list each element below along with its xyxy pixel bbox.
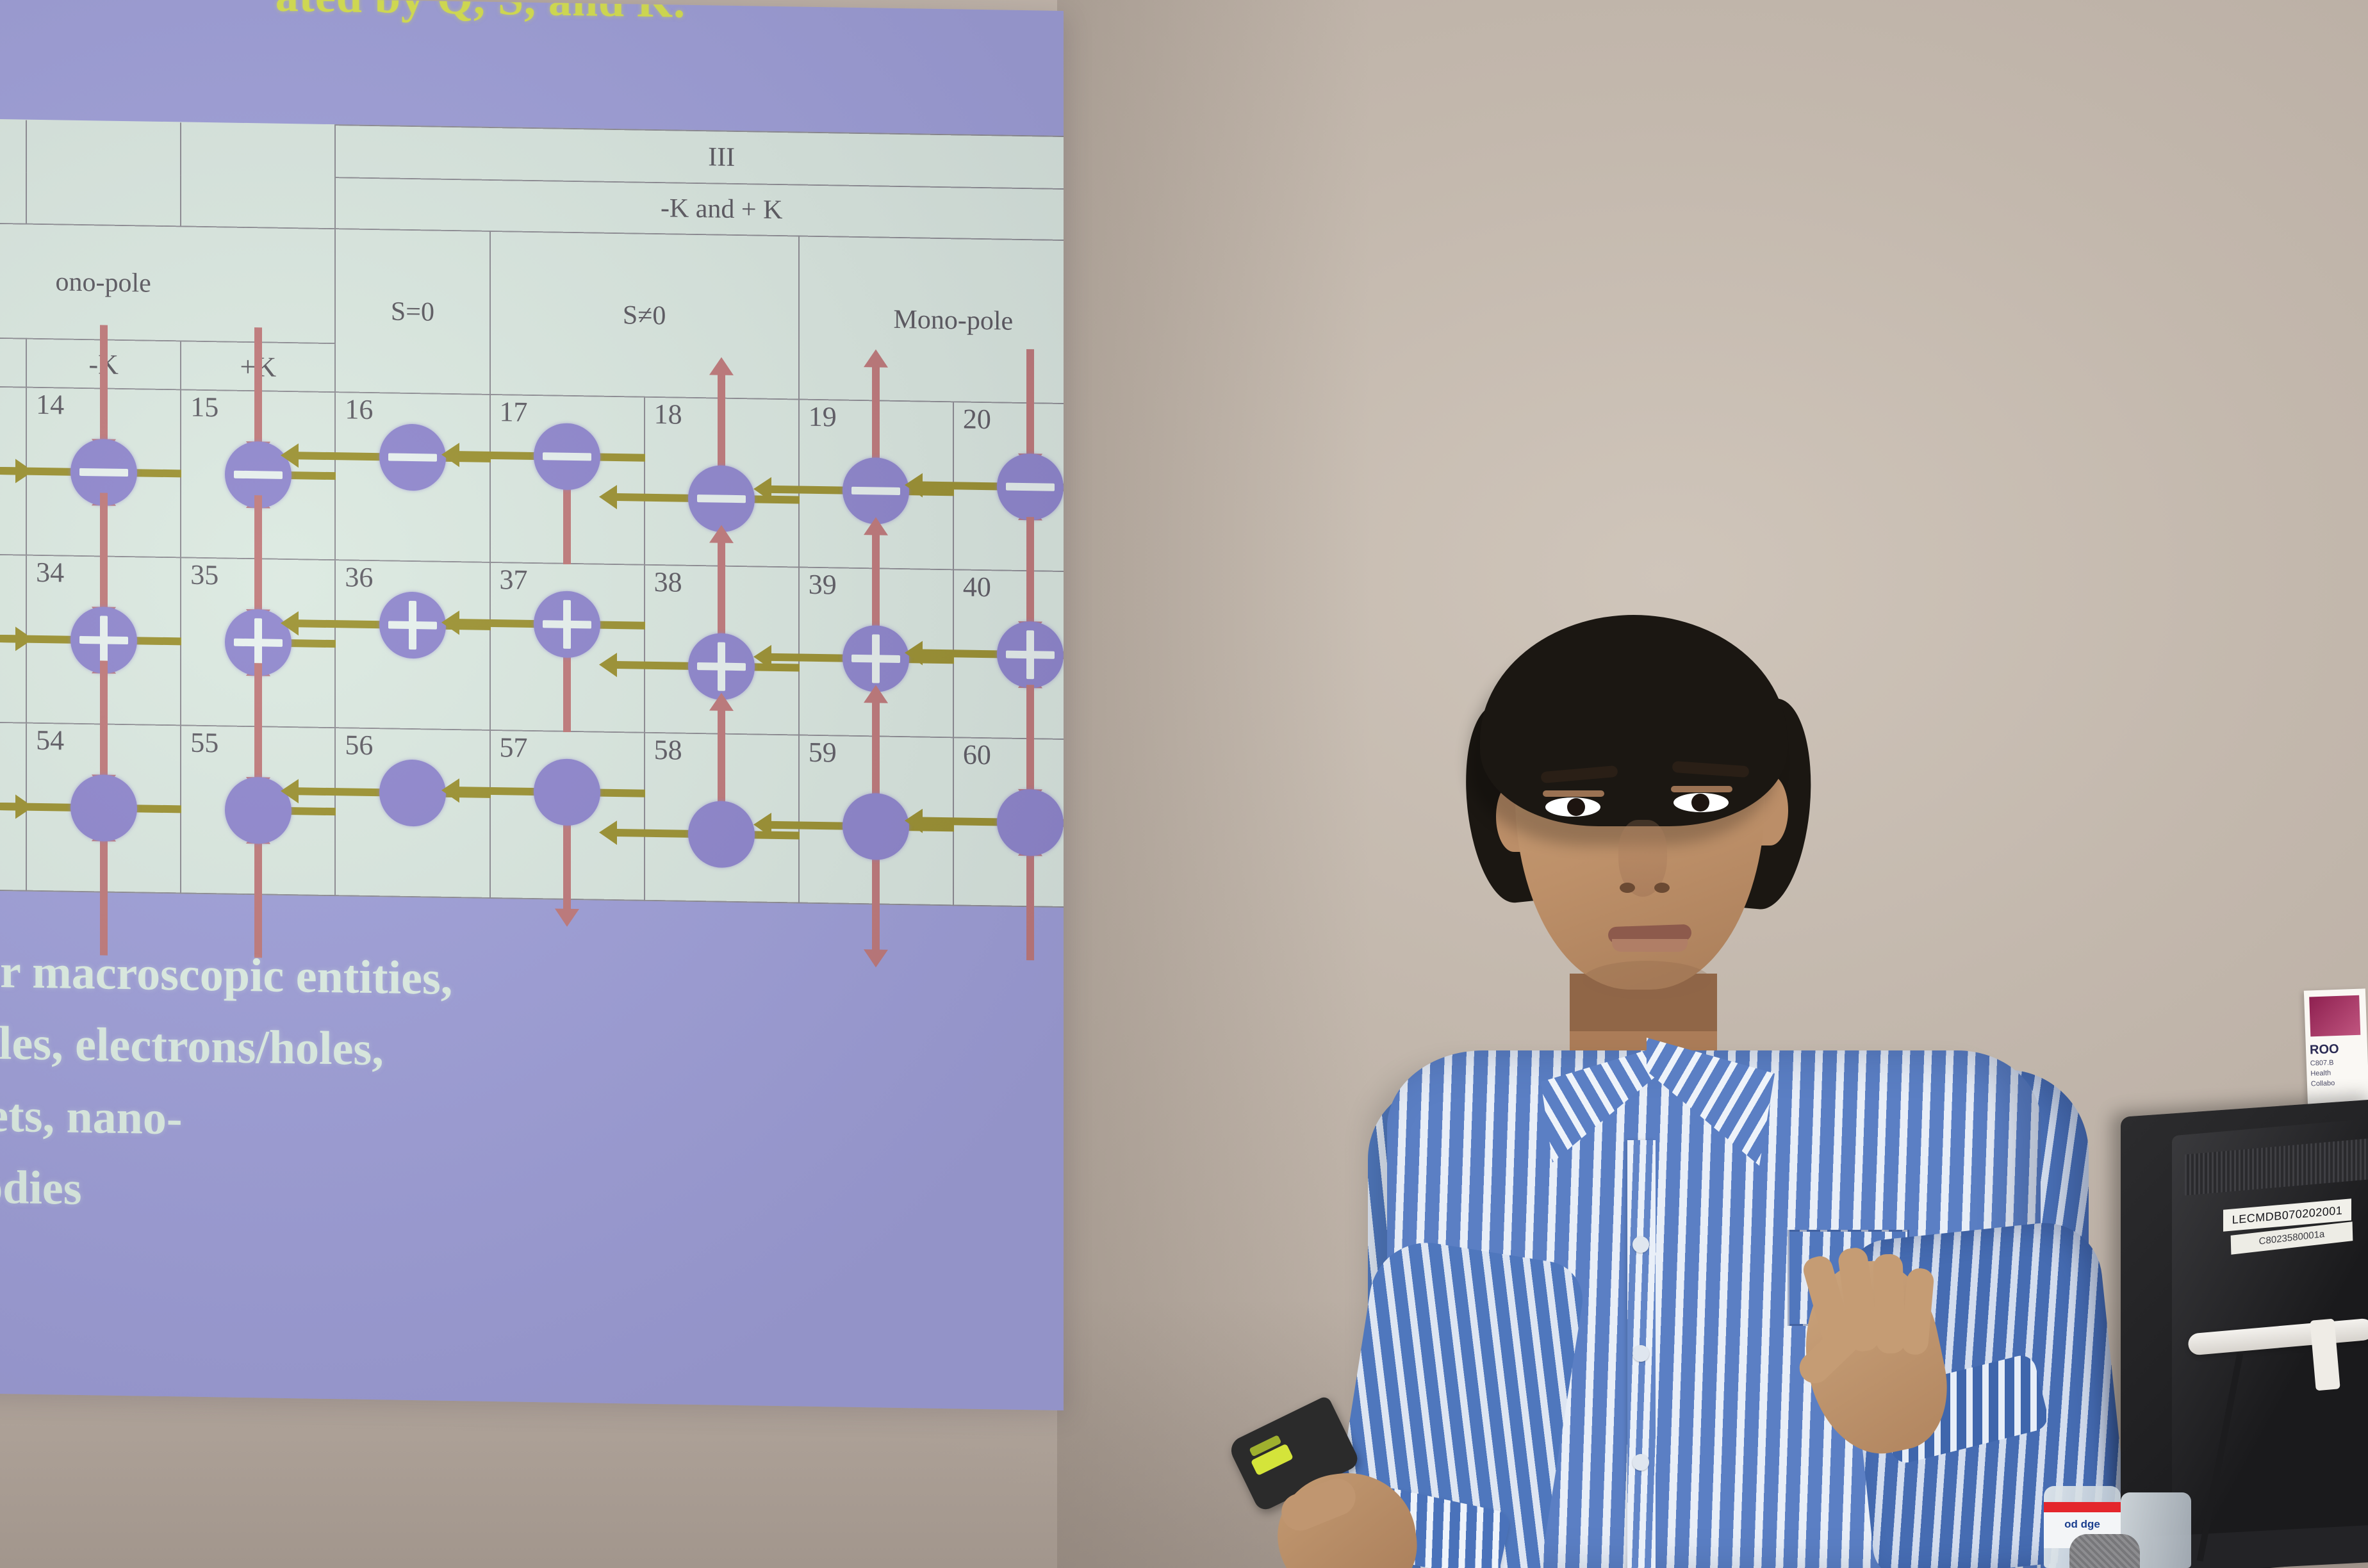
lecture-room-scene: ated by Q, S, and K. III -K and + K ono-…	[0, 0, 2368, 1568]
arrowhead-up	[709, 525, 734, 543]
cell-number: 56	[345, 731, 373, 760]
poster-graphic	[2309, 995, 2360, 1037]
particle-circle	[688, 801, 755, 869]
arrowhead-left	[441, 610, 459, 634]
nostril-left	[1620, 883, 1635, 893]
table-cell: 56	[335, 728, 489, 898]
particle-circle	[534, 591, 600, 658]
col-header-s-zero: S=0	[335, 229, 489, 395]
cell-number: 54	[36, 726, 64, 755]
poster-line-3: Collabo	[2311, 1079, 2335, 1088]
shirt-button	[1632, 1236, 1649, 1253]
arrowhead-up	[709, 692, 734, 711]
pupil-left	[1567, 798, 1585, 816]
particle-circle	[534, 758, 600, 826]
arrow-up-icon	[872, 366, 880, 462]
arrowhead-left	[599, 821, 617, 845]
particle-circle	[379, 759, 446, 827]
table-header-row-1: III	[0, 118, 1064, 190]
arrow-down-icon	[1026, 685, 1034, 790]
arrowhead-left	[441, 442, 459, 466]
table-cell: 57	[490, 730, 645, 901]
particle-circle	[843, 793, 909, 861]
nostril-right	[1654, 883, 1670, 893]
eye-right	[1673, 793, 1729, 812]
cell-number: 37	[500, 566, 528, 594]
arrow-down-icon	[563, 484, 571, 574]
cell-number: 17	[500, 398, 528, 427]
table-cell: 36	[335, 560, 489, 730]
arrowhead-left	[905, 473, 923, 497]
cell-number: 18	[654, 400, 682, 429]
table-header-row-3: ono-pole S=0 S≠0 Mono-pole	[0, 222, 1064, 355]
arrow-down-icon	[254, 495, 262, 610]
table-row: 54 55	[0, 721, 1064, 908]
left-group-label: ono-pole	[0, 222, 335, 343]
arrow-down-icon	[1026, 349, 1034, 455]
arrowhead-left	[599, 653, 617, 677]
arrowhead-left	[599, 485, 617, 509]
arrow-down-icon	[254, 663, 262, 778]
arrowhead-up	[864, 685, 888, 704]
lower-lip	[1612, 939, 1688, 952]
cell-number: 16	[345, 395, 373, 424]
projected-slide: ated by Q, S, and K. III -K and + K ono-…	[0, 0, 1064, 1410]
particle-circle	[997, 788, 1064, 856]
table-cell: 16	[335, 392, 489, 562]
cell-number: 20	[963, 405, 991, 434]
arrow-up-icon	[718, 542, 725, 638]
arrowhead-left	[905, 808, 923, 833]
table-cell: 54	[26, 723, 181, 894]
particle-circle	[843, 625, 909, 693]
pupil-right	[1691, 794, 1709, 812]
particle-circle	[997, 621, 1064, 689]
left-blank-cell	[0, 118, 26, 224]
arrowhead-left	[753, 645, 771, 669]
shirt-button	[1632, 1454, 1649, 1471]
cell-number: 59	[809, 739, 837, 767]
poster-line-2: Health	[2310, 1069, 2331, 1077]
cell-number: 38	[654, 568, 682, 597]
poster-line-1: C807.B	[2310, 1059, 2334, 1067]
chin-shadow	[1583, 961, 1711, 999]
arrow-down-icon	[254, 327, 262, 443]
left-blank-cell-3	[181, 122, 335, 229]
table-cell: 40	[953, 569, 1064, 740]
arrow-up-icon	[1026, 854, 1034, 960]
col-header-monopole: Mono-pole	[799, 236, 1064, 405]
slide-bullet-list: pic or macroscopic entities, articles, e…	[0, 935, 1057, 1241]
arrow-up-icon	[872, 702, 880, 798]
cell-number: 58	[654, 736, 682, 765]
shirt-button	[1632, 1345, 1649, 1362]
table-row: 14 15	[0, 385, 1064, 572]
bottle-label-text: od dge	[2048, 1519, 2117, 1530]
cell-number: 60	[963, 741, 991, 770]
particle-circle	[379, 423, 446, 491]
table-cell: 17	[490, 395, 645, 565]
eyelid-right	[1671, 786, 1732, 792]
particle-circle	[70, 774, 137, 842]
finger	[1873, 1254, 1905, 1354]
arrow-down-icon	[1026, 517, 1034, 623]
table-cell: 20	[953, 402, 1064, 572]
arrowhead-down	[555, 908, 579, 927]
hair	[1480, 615, 1788, 826]
particle-circle	[688, 633, 755, 701]
table-row: 34 35	[0, 553, 1064, 740]
gray-desk-object	[2069, 1534, 2140, 1568]
table-cell: 60	[953, 737, 1064, 908]
cell-number: 40	[963, 573, 991, 602]
table-cell: 58	[645, 733, 799, 903]
table-cell: 37	[490, 562, 645, 733]
arrowhead-left	[281, 443, 299, 468]
particle-circle	[379, 591, 446, 659]
particle-circle	[688, 465, 755, 533]
cell-number: 14	[36, 391, 64, 420]
arrow-down-icon	[100, 493, 108, 608]
arrowhead-up	[864, 350, 888, 368]
poster-title: ROO	[2310, 1042, 2339, 1058]
arrow-down-icon	[872, 855, 880, 951]
particle-circle	[997, 453, 1064, 521]
arrowhead-left	[441, 778, 459, 802]
particle-circle	[843, 457, 909, 525]
cell-number: 34	[36, 559, 64, 587]
cell-number: 19	[809, 403, 837, 432]
arrow-up-icon	[718, 374, 725, 470]
particle-circle	[534, 423, 600, 491]
cell-number: 35	[190, 561, 218, 590]
arrow-up-icon	[718, 710, 725, 806]
sign-header-k: K	[0, 336, 26, 388]
eyelid-left	[1543, 790, 1604, 797]
arrowhead-up	[709, 357, 734, 375]
cell-number: 39	[809, 571, 837, 600]
arrow-up-icon	[872, 534, 880, 630]
arrowhead-left	[281, 779, 299, 803]
arrow-down-icon	[563, 652, 571, 742]
cell-number: 55	[190, 729, 218, 758]
cell-number: 57	[500, 733, 528, 762]
arrowhead-left	[753, 477, 771, 502]
arrowhead-up	[864, 518, 888, 536]
arrowhead-left	[905, 641, 923, 665]
arrow-down-icon	[563, 820, 571, 910]
eye-left	[1545, 797, 1600, 817]
left-blank-cell-2	[26, 120, 181, 227]
col-header-s-nonzero: S≠0	[490, 231, 799, 400]
presenter	[1249, 576, 2210, 1568]
arrow-down-icon	[100, 325, 108, 440]
cell-number: 15	[190, 393, 218, 422]
arrowhead-left	[753, 813, 771, 837]
cell-number: 36	[345, 563, 373, 592]
table-cell: 55	[181, 725, 335, 895]
arrowhead-left	[281, 611, 299, 635]
arrow-down-icon	[100, 660, 108, 776]
particle-classification-table: III -K and + K ono-pole S=0 S≠0 Mono-pol…	[0, 117, 1064, 908]
slide-table-panel: III -K and + K ono-pole S=0 S≠0 Mono-pol…	[0, 117, 1064, 908]
